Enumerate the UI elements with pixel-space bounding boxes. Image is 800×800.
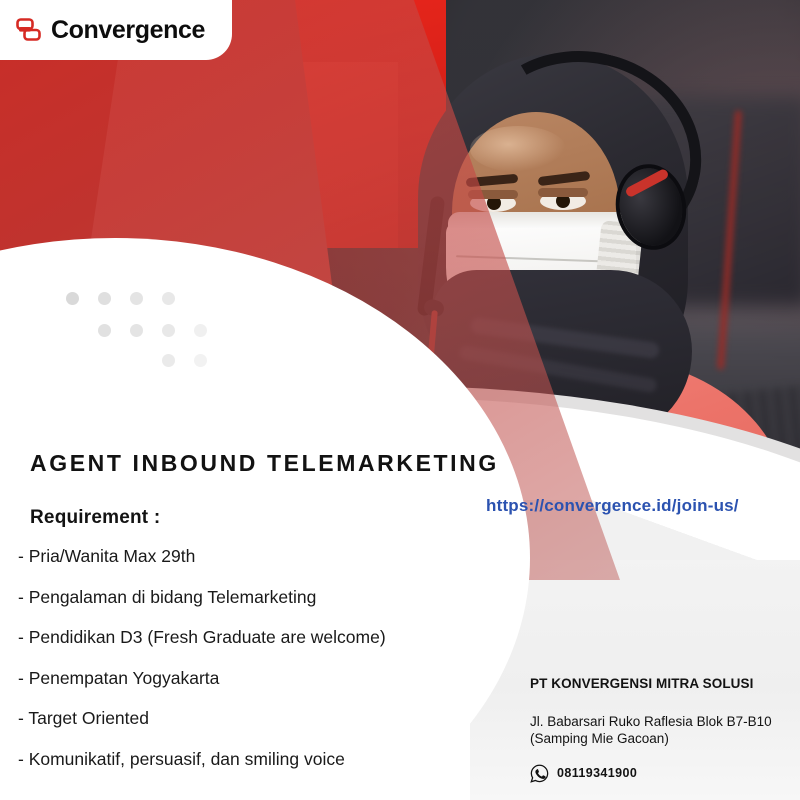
requirement-list: - Pria/Wanita Max 29th - Pengalaman di b…: [18, 548, 458, 791]
list-item: - Pendidikan D3 (Fresh Graduate are welc…: [18, 629, 458, 647]
job-title: AGENT INBOUND TELEMARKETING: [30, 450, 499, 477]
convergence-s-mark-icon: [16, 18, 42, 42]
list-item: - Target Oriented: [18, 710, 458, 728]
whatsapp-icon: [530, 764, 549, 783]
brand-logo[interactable]: Convergence: [0, 0, 232, 60]
company-address: Jl. Babarsari Ruko Raflesia Blok B7-B10 …: [530, 713, 800, 748]
company-info: PT KONVERGENSI MITRA SOLUSI Jl. Babarsar…: [530, 676, 800, 783]
list-item: - Pria/Wanita Max 29th: [18, 548, 458, 566]
phone-number: 08119341900: [557, 766, 637, 780]
recruitment-poster: Convergence AGENT INBOUND TELEMARKETING …: [0, 0, 800, 800]
company-address-line1: Jl. Babarsari Ruko Raflesia Blok B7-B10: [530, 713, 800, 730]
company-address-line2: (Samping Mie Gacoan): [530, 730, 800, 747]
company-name: PT KONVERGENSI MITRA SOLUSI: [530, 676, 800, 691]
brand-logo-text: Convergence: [51, 16, 205, 45]
decorative-dot-grid: [66, 292, 226, 382]
list-item: - Penempatan Yogyakarta: [18, 670, 458, 688]
list-item: - Pengalaman di bidang Telemarketing: [18, 589, 458, 607]
list-item: - Komunikatif, persuasif, dan smiling vo…: [18, 751, 458, 769]
requirement-heading: Requirement :: [30, 507, 160, 529]
apply-url[interactable]: https://convergence.id/join-us/: [486, 496, 739, 516]
company-phone[interactable]: 08119341900: [530, 764, 800, 783]
